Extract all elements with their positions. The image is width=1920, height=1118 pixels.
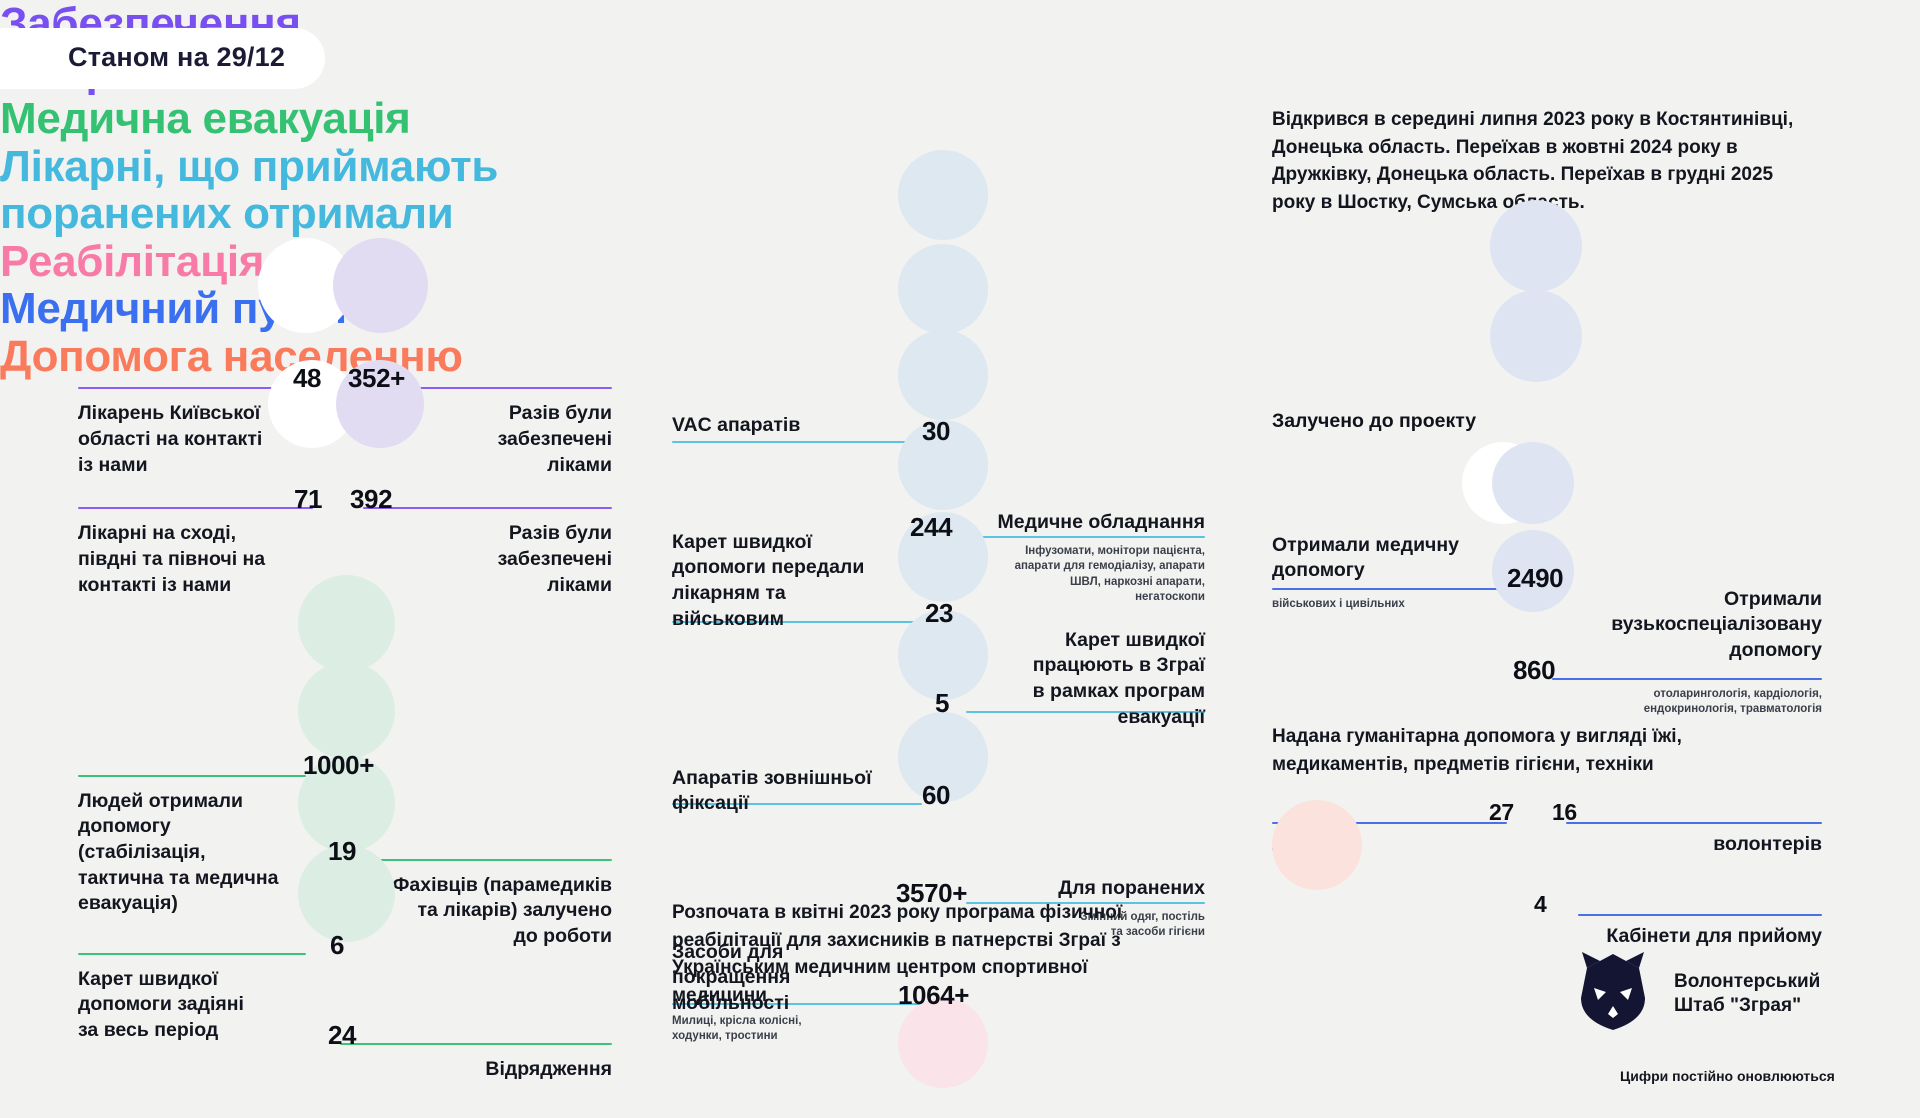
rule-24 bbox=[340, 1043, 612, 1045]
rule-1000 bbox=[78, 775, 306, 777]
bubble-352 bbox=[333, 238, 428, 333]
stat-number: 6 bbox=[330, 930, 344, 961]
stat-sublabel: військових і цивільних bbox=[1272, 597, 1532, 613]
rule-4 bbox=[1578, 914, 1822, 916]
section-title-hospitals-receiving: Лікарні, що приймають поранених отримали bbox=[0, 143, 600, 238]
rule-16 bbox=[1566, 822, 1822, 824]
stat-number: 19 bbox=[328, 836, 356, 867]
population-aid-paragraph: Надана гуманітарна допомога у вигляді їж… bbox=[1272, 723, 1792, 778]
bubble-1000 bbox=[298, 575, 395, 672]
stat-number: 60 bbox=[922, 780, 950, 811]
stat-number: 23 bbox=[925, 598, 953, 629]
bubble-244 bbox=[898, 244, 988, 334]
infographic-page: Станом на 29/12 Забезпечення лікарень 48… bbox=[0, 0, 1920, 1118]
engaged-in-project-label: Залучено до проекту bbox=[1272, 410, 1572, 433]
stat-number: 860 bbox=[1513, 655, 1555, 686]
bubble-2490 bbox=[1490, 200, 1582, 292]
stat-label: Відрядження bbox=[352, 1057, 612, 1083]
stat-sublabel: отоларингологія, кардіологія, ендокринол… bbox=[1572, 687, 1822, 718]
stat-label: Карет швидкої допомоги задіяні за весь п… bbox=[78, 967, 308, 1044]
stat-number: 1064+ bbox=[898, 980, 969, 1011]
stat-sublabel: Милиці, крісла колісні, ходунки, тростин… bbox=[672, 1014, 922, 1045]
bubble-19 bbox=[298, 662, 395, 759]
wolf-head-icon bbox=[1570, 948, 1656, 1039]
stat-label: Людей отримали допомогу (стабілізація, т… bbox=[78, 789, 308, 918]
update-footnote: Цифри постійно оновлюються bbox=[1620, 1068, 1835, 1084]
stat-label: Кабінети для прийому bbox=[1590, 924, 1822, 950]
rule-6 bbox=[78, 953, 306, 955]
stat-number: 27 bbox=[1489, 799, 1514, 826]
stat-sublabel: Інфузомати, монітори пацієнта, апарати д… bbox=[975, 544, 1205, 606]
rule-2490 bbox=[1272, 588, 1522, 590]
stat-number: 5 bbox=[935, 688, 949, 719]
stat-label: Лікарні на сході, півдні та півночі на к… bbox=[78, 521, 318, 598]
stat-number: 392 bbox=[350, 484, 392, 515]
bubble-30 bbox=[898, 150, 988, 240]
stat-number: 352+ bbox=[348, 363, 405, 394]
stat-number: 71 bbox=[294, 484, 322, 515]
stat-number: 24 bbox=[328, 1020, 356, 1051]
stat-number: 30 bbox=[922, 416, 950, 447]
brand-logo: Волонтерський Штаб "Зграя" bbox=[1570, 948, 1820, 1039]
rule-860 bbox=[1552, 678, 1822, 680]
stat-number: 2490 bbox=[1507, 563, 1563, 594]
section-title-medical-evacuation: Медична евакуація bbox=[0, 95, 460, 143]
stat-label: Карет швидкої допомоги передали лікарням… bbox=[672, 530, 922, 633]
stat-number: 1000+ bbox=[303, 750, 374, 781]
rule-right-2 bbox=[363, 507, 612, 509]
bubble-381 bbox=[898, 998, 988, 1088]
rule-left-2 bbox=[78, 507, 313, 509]
date-badge: Станом на 29/12 bbox=[0, 28, 325, 89]
stat-label: Отримали медичну допомогу bbox=[1272, 533, 1512, 584]
stat-label: VAC апаратів bbox=[672, 413, 922, 439]
rule-244 bbox=[966, 536, 1205, 538]
brand-name: Волонтерський Штаб "Зграя" bbox=[1674, 970, 1820, 1018]
bubble-16 bbox=[1492, 442, 1574, 524]
stat-label: Апаратів зовнішньої фіксації bbox=[672, 766, 922, 817]
stat-number: 4 bbox=[1534, 891, 1546, 918]
stat-label: Отримали вузькоспеціалізовану допомогу bbox=[1572, 587, 1822, 664]
stat-number: 3570+ bbox=[896, 878, 967, 909]
bubble-860 bbox=[1490, 290, 1582, 382]
stat-label: Для поранених bbox=[985, 876, 1205, 902]
bubble-23 bbox=[898, 330, 988, 420]
stat-label: Медичне обладнання bbox=[985, 510, 1205, 536]
bubble-220 bbox=[1272, 800, 1362, 890]
stat-label: волонтерів bbox=[1620, 832, 1822, 858]
stat-number: 244 bbox=[910, 512, 952, 543]
rule-30 bbox=[672, 441, 922, 443]
medical-point-paragraph: Відкрився в середині липня 2023 року в К… bbox=[1272, 106, 1817, 216]
stat-label: Разів були забезпечені ліками bbox=[382, 521, 612, 598]
stat-number: 48 bbox=[293, 363, 321, 394]
stat-number: 16 bbox=[1552, 799, 1577, 826]
stat-label: Карет швидкої працюють в Зграї в рамках … bbox=[955, 628, 1205, 731]
